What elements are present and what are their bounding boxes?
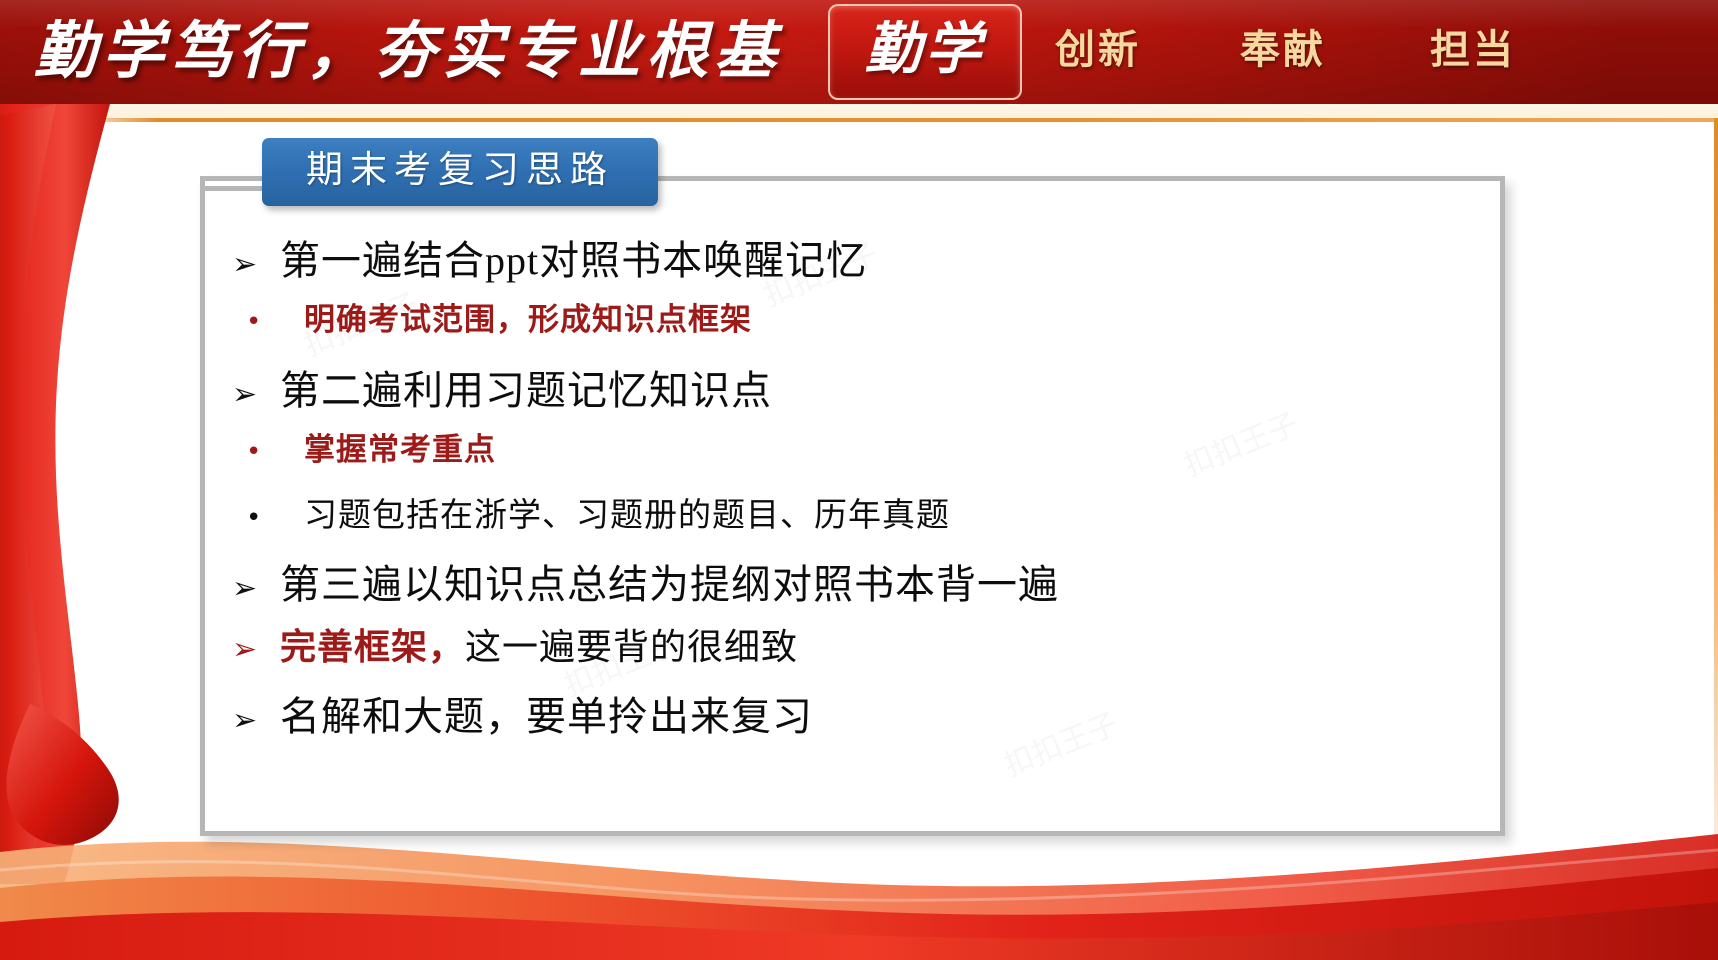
list-item-text: 明确考试范围，形成知识点框架 (304, 294, 752, 339)
list-item: • 明确考试范围，形成知识点框架 (232, 294, 1472, 358)
list-item: ➢ 名解和大题，要单拎出来复习 (232, 684, 1472, 750)
red-ribbon-left-decoration (0, 104, 220, 884)
list-item-text: 掌握常考重点 (304, 424, 496, 469)
title-tab-connector (200, 186, 270, 191)
list-item: ➢ 第二遍利用习题记忆知识点 (232, 358, 1472, 424)
list-item: ➢ 第一遍结合ppt对照书本唤醒记忆 (232, 228, 1472, 294)
list-item-text: 第二遍利用习题记忆知识点 (280, 358, 772, 416)
list-item-text: 名解和大题，要单拎出来复习 (280, 684, 813, 742)
list-item-text: 第一遍结合ppt对照书本唤醒记忆 (280, 228, 867, 286)
list-item-text-rest: 这一遍要背的很细致 (465, 627, 798, 667)
header-keyword-0: 创新 (1055, 20, 1141, 80)
arrow-bullet-icon: ➢ (232, 706, 280, 736)
header-badge-label: 勤学 (830, 6, 1020, 98)
dot-bullet-icon: • (232, 505, 304, 531)
header-keyword-1: 奉献 (1240, 20, 1326, 80)
header-title: 勤学笃行，夯实专业根基 (34, 6, 782, 98)
section-title-tab: 期末考复习思路 (262, 138, 658, 206)
gold-divider-rule (60, 118, 1718, 122)
list-item-text: 完善框架，这一遍要背的很细致 (280, 618, 798, 670)
list-item: • 习题包括在浙学、习题册的题目、历年真题 (232, 488, 1472, 552)
slide-header-banner: 勤学笃行，夯实专业根基 勤学 创新 奉献 担当 (0, 0, 1718, 104)
list-item-text: 第三遍以知识点总结为提纲对照书本背一遍 (280, 552, 1059, 610)
list-item: • 掌握常考重点 (232, 424, 1472, 488)
dot-bullet-icon: • (232, 309, 304, 335)
arrow-bullet-icon: ➢ (232, 574, 280, 604)
list-item: ➢ 完善框架，这一遍要背的很细致 (232, 618, 1472, 684)
header-badge: 勤学 (828, 4, 1022, 100)
dot-bullet-icon: • (232, 439, 304, 465)
section-title-text: 期末考复习思路 (262, 138, 658, 206)
list-item: ➢ 第三遍以知识点总结为提纲对照书本背一遍 (232, 552, 1472, 618)
arrow-bullet-icon: ➢ (232, 635, 280, 665)
arrow-bullet-icon: ➢ (232, 380, 280, 410)
header-keyword-2: 担当 (1430, 20, 1516, 80)
list-item-text: 习题包括在浙学、习题册的题目、历年真题 (304, 488, 950, 536)
bullet-list: ➢ 第一遍结合ppt对照书本唤醒记忆 • 明确考试范围，形成知识点框架 ➢ 第二… (232, 228, 1472, 750)
cream-band (60, 104, 1718, 119)
presentation-slide: 勤学笃行，夯实专业根基 勤学 创新 奉献 担当 (0, 0, 1718, 960)
arrow-bullet-icon: ➢ (232, 250, 280, 280)
list-item-text-highlight: 完善框架， (280, 627, 465, 667)
gold-right-rule (1714, 118, 1718, 878)
